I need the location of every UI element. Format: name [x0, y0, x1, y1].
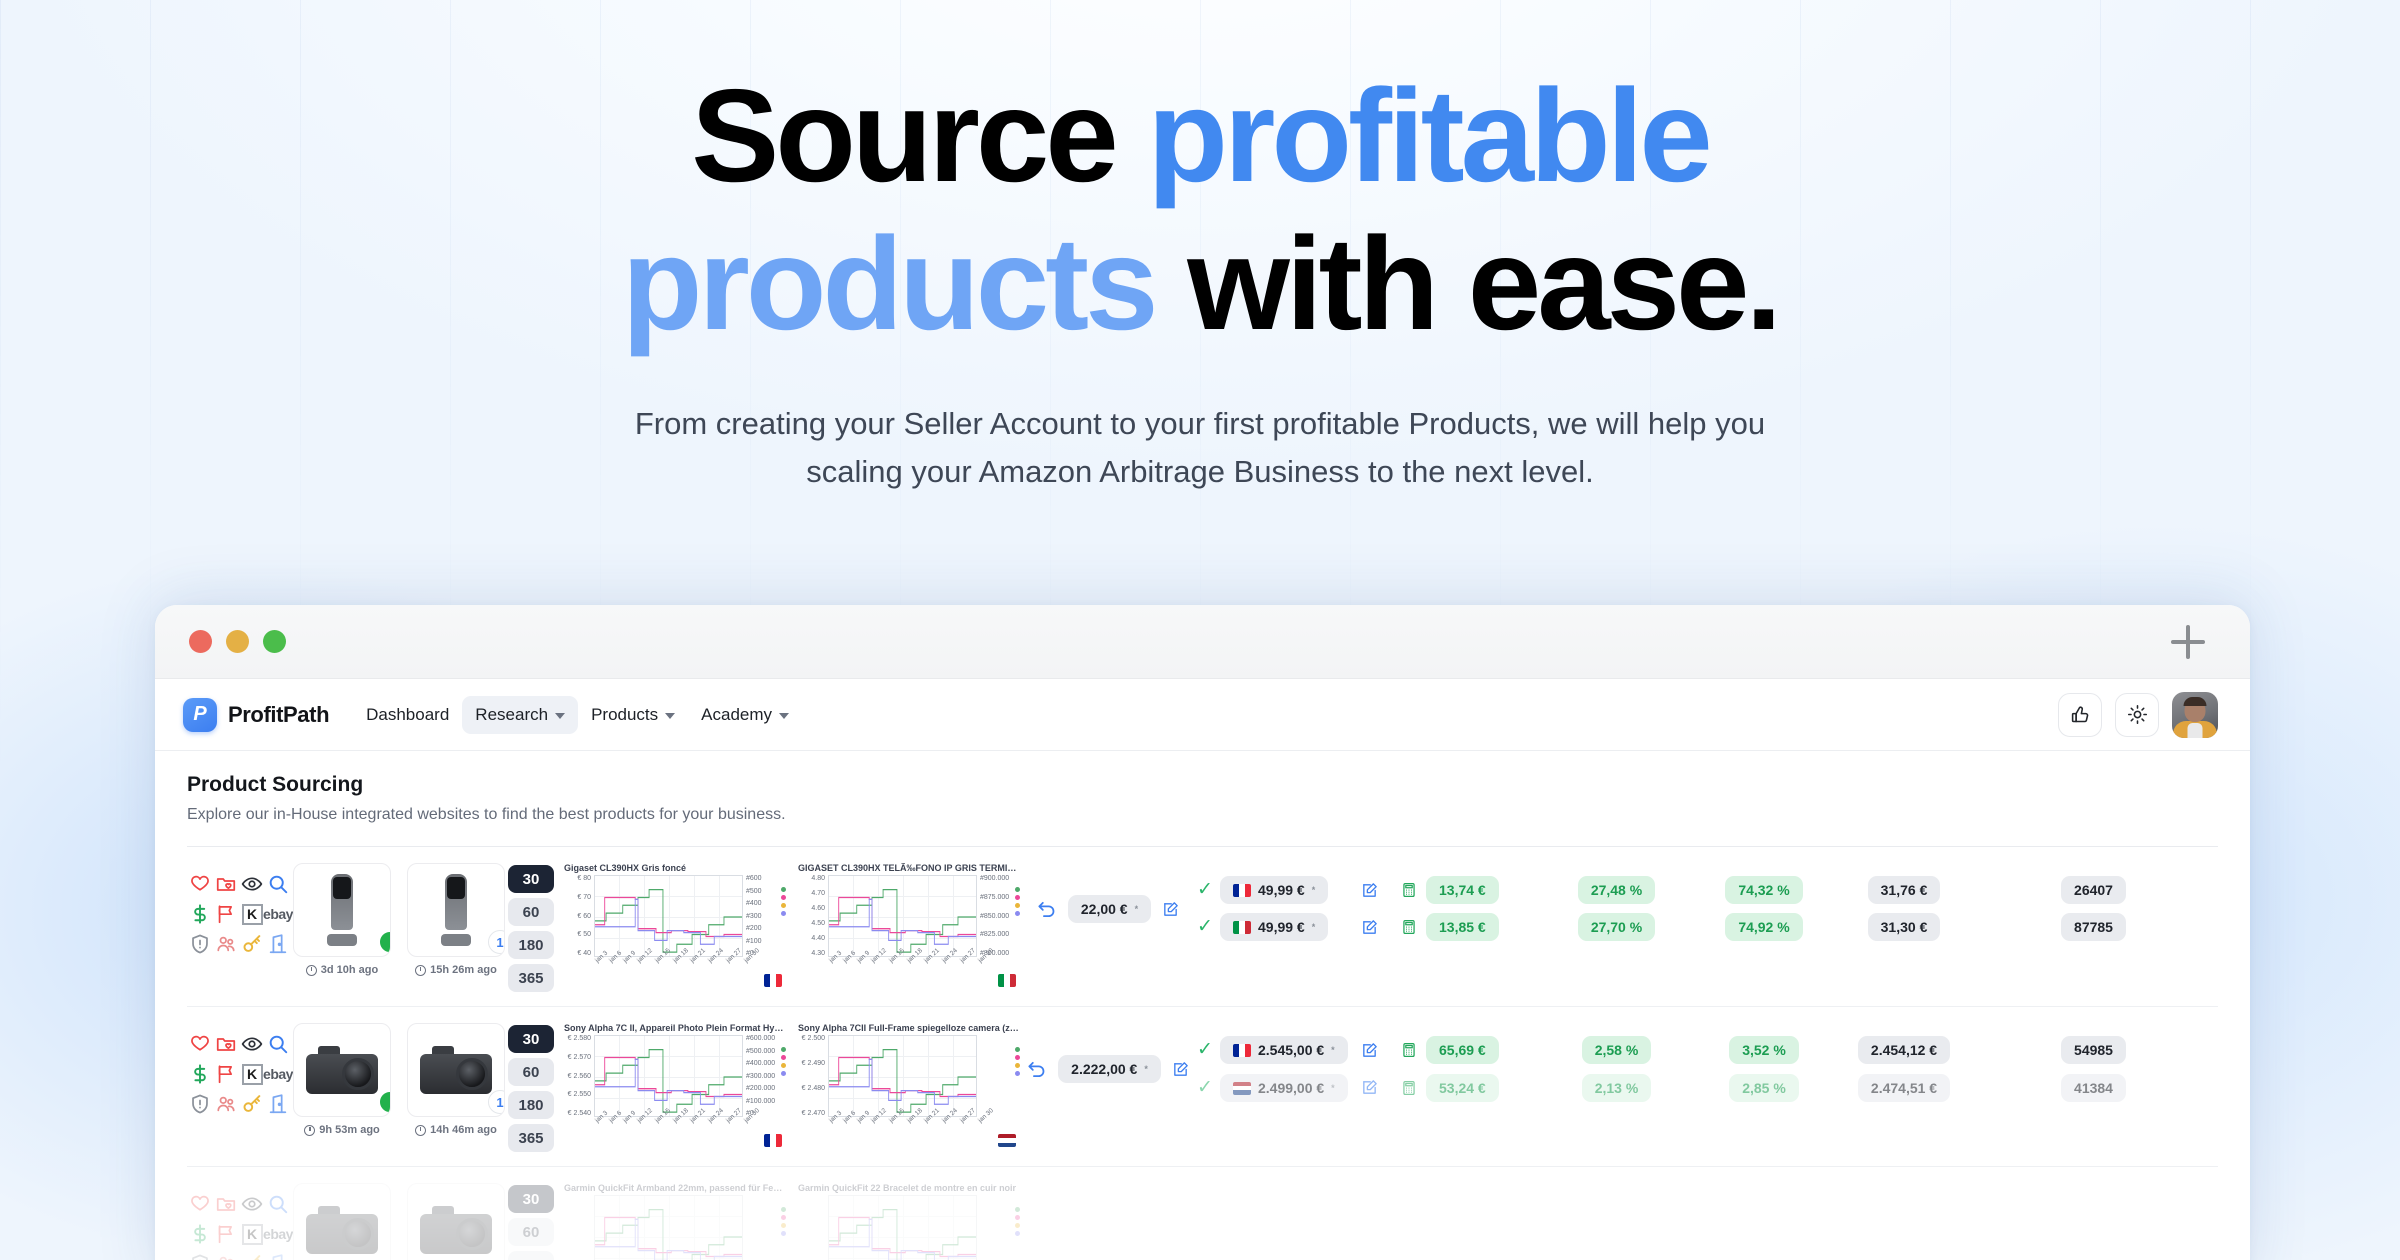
product-thumbnail[interactable]: [407, 1183, 505, 1260]
cost-pill: 2.454,12 €: [1858, 1036, 1950, 1064]
identifier-pill: 41384: [2061, 1074, 2126, 1102]
hero-subtitle-line-1: From creating your Seller Account to you…: [0, 400, 2400, 448]
marketplace-metrics: [1190, 1183, 2218, 1196]
eye-icon[interactable]: [241, 1193, 263, 1215]
count-badge: 1: [488, 930, 505, 954]
margin-pill: 2,58 %: [1582, 1036, 1652, 1064]
hero-headline: Source profitable products with ease.: [0, 0, 2400, 358]
chart-y2-axis: [743, 1195, 779, 1260]
flag-it-icon: [998, 974, 1016, 987]
chart-y2-axis: #600.000#500.000#400.000#300.000#200.000…: [743, 1035, 779, 1117]
product-image-cordless-phone: [441, 874, 471, 946]
chart-y-axis: € 2.580€ 2.570€ 2.560€ 2.550€ 2.540: [564, 1035, 594, 1117]
chart-plot-area: [594, 1195, 743, 1260]
table-row[interactable]: Kebay 3060180365 Garmin QuickFit Armband…: [187, 1167, 2218, 1260]
margin-pill: 27,48 %: [1578, 876, 1655, 904]
chart-x-axis: jan 3jan 6jan 9jan 12jan 15jan 18jan 21j…: [594, 1119, 750, 1126]
roi-pill: 74,92 %: [1725, 913, 1802, 941]
sell-price-pill[interactable]: 49,99 €*: [1220, 876, 1328, 904]
price-history-charts: Gigaset CL390HX Gris foncé € 80€ 70€ 60€…: [560, 863, 1025, 987]
brand-name: ProfitPath: [228, 702, 329, 728]
navbar-actions: [2058, 692, 2218, 738]
users-icon[interactable]: [215, 1253, 237, 1260]
nav-label-dashboard: Dashboard: [366, 705, 449, 725]
key-icon[interactable]: [241, 933, 263, 955]
heart-icon[interactable]: [189, 873, 211, 895]
flag-fr-icon: [1233, 1044, 1251, 1057]
nav-item-academy[interactable]: Academy: [688, 696, 802, 734]
calculator-icon[interactable]: [1401, 919, 1417, 935]
marketplace-metrics: ✓ 2.545,00 €* 65,69 € 2,58 % 3,52 % 2.45…: [1190, 1023, 2218, 1102]
check-icon: ✓: [1197, 916, 1213, 937]
price-history-chart[interactable]: Sony Alpha 7C II, Appareil Photo Plein F…: [564, 1023, 786, 1147]
theme-toggle-button[interactable]: [2115, 693, 2159, 737]
chart-y-axis: € 80€ 70€ 60€ 50€ 40: [564, 875, 594, 957]
undo-icon[interactable]: [1026, 1059, 1047, 1080]
app-navbar: P ProfitPath Dashboard Research Products…: [155, 679, 2250, 751]
product-card[interactable]: 9h 53m ago: [293, 1023, 391, 1136]
date-range-selector: 3060180365: [502, 863, 560, 992]
date-range-selector: 3060180365: [502, 1023, 560, 1152]
minimize-window-button[interactable]: [226, 630, 249, 653]
price-history-chart-svg: [829, 876, 976, 956]
price-history-chart[interactable]: Garmin QuickFit 22 Bracelet de montre en…: [798, 1183, 1020, 1260]
product-thumbnail[interactable]: [293, 1183, 391, 1260]
margin-pill: 27,70 %: [1578, 913, 1655, 941]
chart-x-axis: jan 3jan 6jan 9jan 12jan 15jan 18jan 21j…: [594, 959, 750, 966]
edit-icon[interactable]: [1361, 919, 1378, 936]
day-range-365-button[interactable]: 365: [508, 1124, 554, 1152]
headline-text-2: with ease.: [1155, 210, 1779, 357]
price-history-chart-svg: [829, 1196, 976, 1260]
eye-icon[interactable]: [241, 1033, 263, 1055]
edit-icon[interactable]: [1361, 1042, 1378, 1059]
product-thumbnails: 9h 53m ago 1 14h 46m ago: [287, 1023, 502, 1136]
chart-legend: [779, 1035, 786, 1117]
profit-pill: 13,74 €: [1426, 876, 1499, 904]
price-history-chart-svg: [829, 1036, 976, 1116]
product-thumbnail[interactable]: [293, 863, 391, 957]
chart-title: Sony Alpha 7CII Full-Frame spiegelloze c…: [798, 1023, 1020, 1033]
cost-pill: 31,76 €: [1868, 876, 1941, 904]
day-range-30-button[interactable]: 30: [508, 865, 554, 893]
price-history-chart[interactable]: Gigaset CL390HX Gris foncé € 80€ 70€ 60€…: [564, 863, 786, 987]
day-range-180-button[interactable]: 180: [508, 1251, 554, 1260]
day-range-180-button[interactable]: 180: [508, 931, 554, 959]
product-thumbnail[interactable]: [293, 1023, 391, 1117]
product-thumbnails: 3d 10h ago 1 15h 26m ago: [287, 863, 502, 976]
chart-marketplace-flag: [564, 974, 786, 987]
day-range-30-button[interactable]: 30: [508, 1025, 554, 1053]
marketplace-metric-row[interactable]: ✓ 49,99 €* 13,85 € 27,70 % 74,92 % 31,30…: [1190, 913, 2218, 941]
product-image-cordless-phone: [327, 874, 357, 946]
nav-label-products: Products: [591, 705, 658, 725]
chevron-down-icon: [665, 713, 675, 719]
day-range-30-button[interactable]: 30: [508, 1185, 554, 1213]
users-icon[interactable]: [215, 933, 237, 955]
flag-nl-icon: [998, 1134, 1016, 1147]
headline-text-1: Source: [691, 62, 1147, 209]
marketplace-metric-row[interactable]: ✓ 2.499,00 €* 53,24 € 2,13 % 2,85 % 2.47…: [1190, 1073, 2218, 1102]
check-icon: ✓: [1197, 879, 1213, 900]
roi-pill: 2,85 %: [1729, 1074, 1799, 1102]
avatar[interactable]: [2172, 692, 2218, 738]
door-icon[interactable]: [267, 933, 289, 955]
price-history-charts: Sony Alpha 7C II, Appareil Photo Plein F…: [560, 1023, 1025, 1147]
product-image-camera: [420, 1206, 492, 1254]
chart-legend: [1013, 1195, 1020, 1260]
day-range-180-button[interactable]: 180: [508, 1091, 554, 1119]
price-history-chart-svg: [595, 1036, 742, 1116]
status-dot-badge: [378, 930, 391, 954]
price-history-chart[interactable]: Sony Alpha 7CII Full-Frame spiegelloze c…: [798, 1023, 1020, 1147]
product-timestamp: 14h 46m ago: [407, 1124, 505, 1136]
chart-plot-area: [594, 875, 743, 957]
page-title: Product Sourcing: [187, 773, 2218, 797]
maximize-window-button[interactable]: [263, 630, 286, 653]
folder-heart-icon[interactable]: [215, 1193, 237, 1215]
buy-price-cell: 2.222,00 €*: [1025, 1023, 1190, 1083]
buy-price-pill[interactable]: 22,00 €*: [1068, 895, 1151, 923]
eye-icon[interactable]: [241, 873, 263, 895]
profit-pill: 65,69 €: [1426, 1036, 1499, 1064]
table-row[interactable]: Kebay 9h 53m ago 1 14h 46m ago 306018036…: [187, 1007, 2218, 1167]
kaufland-icon[interactable]: K: [242, 1224, 263, 1245]
product-image-camera: [306, 1206, 378, 1254]
kaufland-icon[interactable]: K: [242, 904, 263, 925]
product-image-camera: [306, 1046, 378, 1094]
shield-alert-icon[interactable]: [189, 1093, 211, 1115]
row-action-icons: Kebay: [187, 1183, 287, 1260]
headline-highlight-1: profitable: [1147, 62, 1708, 209]
nav-item-research[interactable]: Research: [462, 696, 578, 734]
identifier-pill: 54985: [2061, 1036, 2126, 1064]
edit-icon[interactable]: [1361, 882, 1378, 899]
cost-pill: 2.474,51 €: [1858, 1074, 1950, 1102]
nav-label-academy: Academy: [701, 705, 772, 725]
price-history-chart-svg: [595, 876, 742, 956]
search-icon[interactable]: [267, 1033, 289, 1055]
clock-icon: [306, 965, 317, 976]
product-card[interactable]: 1 15h 26m ago: [407, 863, 505, 976]
shield-alert-icon[interactable]: [189, 1253, 211, 1260]
chart-plot-area: [594, 1035, 743, 1117]
search-icon[interactable]: [267, 873, 289, 895]
chart-x-axis: jan 3jan 6jan 9jan 12jan 15jan 18jan 21j…: [828, 959, 984, 966]
chart-title: Gigaset CL390HX Gris foncé: [564, 863, 786, 873]
count-badge: 1: [488, 1090, 505, 1114]
profit-pill: 53,24 €: [1426, 1074, 1499, 1102]
flag-it-icon: [1233, 921, 1251, 934]
shield-alert-icon[interactable]: [189, 933, 211, 955]
roi-pill: 3,52 %: [1729, 1036, 1799, 1064]
margin-pill: 2,13 %: [1582, 1074, 1652, 1102]
chart-y-axis: [564, 1195, 594, 1260]
dollar-icon[interactable]: [189, 1223, 211, 1245]
undo-icon[interactable]: [1036, 899, 1057, 920]
close-window-button[interactable]: [189, 630, 212, 653]
chart-marketplace-flag: [798, 1134, 1020, 1147]
search-icon[interactable]: [267, 1193, 289, 1215]
brand[interactable]: P ProfitPath: [183, 698, 329, 732]
chart-title: GIGASET CL390HX TELÃ‰FONO IP GRIS TERMIN…: [798, 863, 1020, 873]
dollar-icon[interactable]: [189, 903, 211, 925]
edit-icon[interactable]: [1172, 1061, 1189, 1078]
chart-legend: [1013, 1035, 1020, 1117]
clock-icon: [415, 1125, 426, 1136]
price-history-chart-svg: [595, 1196, 742, 1260]
chart-y-axis: € 2.500€ 2.490€ 2.480€ 2.470: [798, 1035, 828, 1117]
heart-icon[interactable]: [189, 1033, 211, 1055]
thumbs-up-icon: [2070, 704, 2091, 725]
check-icon: ✓: [1197, 1039, 1213, 1060]
page-header: Product Sourcing Explore our in-House in…: [155, 751, 2250, 824]
date-range-selector: 3060180365: [502, 1183, 560, 1260]
chart-y-axis: [798, 1195, 828, 1260]
chart-legend: [1013, 875, 1020, 957]
price-history-chart[interactable]: GIGASET CL390HX TELÃ‰FONO IP GRIS TERMIN…: [798, 863, 1020, 987]
marketplace-metric-row[interactable]: ✓ 49,99 €* 13,74 € 27,48 % 74,32 % 31,76…: [1190, 876, 2218, 904]
window-titlebar: [155, 605, 2250, 679]
table-row[interactable]: Kebay 3d 10h ago 1 15h 26m ago 306018036…: [187, 847, 2218, 1007]
hero-section: Source profitable products with ease. Fr…: [0, 0, 2400, 496]
flag-icon[interactable]: [215, 1063, 237, 1085]
product-card[interactable]: [293, 1183, 391, 1260]
profitpath-logo-icon: P: [183, 698, 217, 732]
hero-subtitle: From creating your Seller Account to you…: [0, 400, 2400, 496]
nav-label-research: Research: [475, 705, 548, 725]
chart-plot-area: [828, 1035, 977, 1117]
cost-pill: 31,30 €: [1868, 913, 1941, 941]
key-icon[interactable]: [241, 1093, 263, 1115]
product-sourcing-table: Kebay 3d 10h ago 1 15h 26m ago 306018036…: [155, 847, 2250, 1260]
day-range-60-button[interactable]: 60: [508, 1058, 554, 1086]
clock-icon: [415, 965, 426, 976]
users-icon[interactable]: [215, 1093, 237, 1115]
chart-y2-axis: [977, 1195, 1013, 1260]
product-thumbnails: [287, 1183, 502, 1260]
chart-legend: [779, 1195, 786, 1260]
chart-title: Sony Alpha 7C II, Appareil Photo Plein F…: [564, 1023, 786, 1033]
chart-title: Garmin QuickFit Armband 22mm, passend fü…: [564, 1183, 786, 1193]
marketplace-metrics: ✓ 49,99 €* 13,74 € 27,48 % 74,32 % 31,76…: [1190, 863, 2218, 941]
nav-item-dashboard[interactable]: Dashboard: [353, 696, 462, 734]
product-thumbnail[interactable]: 1: [407, 863, 505, 957]
kaufland-icon[interactable]: K: [242, 1064, 263, 1085]
day-range-365-button[interactable]: 365: [508, 964, 554, 992]
flag-fr-icon: [1233, 884, 1251, 897]
flag-fr-icon: [764, 1134, 782, 1147]
edit-icon[interactable]: [1361, 1079, 1378, 1096]
key-icon[interactable]: [241, 1253, 263, 1260]
product-card[interactable]: 1 14h 46m ago: [407, 1023, 505, 1136]
product-timestamp: 9h 53m ago: [293, 1124, 391, 1136]
chart-x-axis: jan 3jan 6jan 9jan 12jan 15jan 18jan 21j…: [828, 1119, 984, 1126]
chart-marketplace-flag: [798, 974, 1020, 987]
price-history-chart[interactable]: Garmin QuickFit Armband 22mm, passend fü…: [564, 1183, 786, 1260]
identifier-pill: 26407: [2061, 876, 2126, 904]
calculator-icon[interactable]: [1401, 1080, 1417, 1096]
flag-icon[interactable]: [215, 1223, 237, 1245]
flag-icon[interactable]: [215, 903, 237, 925]
heart-icon[interactable]: [189, 1193, 211, 1215]
chart-y2-axis: #600#500#400#300#200#100#0: [743, 875, 779, 957]
product-timestamp: 3d 10h ago: [293, 964, 391, 976]
door-icon[interactable]: [267, 1253, 289, 1260]
product-thumbnail[interactable]: 1: [407, 1023, 505, 1117]
chevron-down-icon: [779, 713, 789, 719]
flag-fr-icon: [764, 974, 782, 987]
sun-icon: [2127, 704, 2148, 725]
row-action-icons: Kebay: [187, 1023, 287, 1119]
day-range-60-button[interactable]: 60: [508, 1218, 554, 1246]
identifier-pill: 87785: [2061, 913, 2126, 941]
product-card[interactable]: [407, 1183, 505, 1260]
chart-y2-axis: [977, 1035, 1013, 1117]
folder-heart-icon[interactable]: [215, 873, 237, 895]
chart-marketplace-flag: [564, 1134, 786, 1147]
product-image-camera: [420, 1046, 492, 1094]
buy-price-cell: 22,00 €*: [1025, 863, 1190, 923]
edit-icon[interactable]: [1162, 901, 1179, 918]
sell-price-pill[interactable]: 2.545,00 €*: [1220, 1036, 1348, 1064]
door-icon[interactable]: [267, 1093, 289, 1115]
new-tab-icon[interactable]: [2171, 625, 2205, 659]
status-dot-badge: [378, 1090, 391, 1114]
dollar-icon[interactable]: [189, 1063, 211, 1085]
chart-legend: [779, 875, 786, 957]
sell-price-pill[interactable]: 2.499,00 €*: [1220, 1074, 1348, 1102]
calculator-icon[interactable]: [1401, 1042, 1417, 1058]
folder-heart-icon[interactable]: [215, 1033, 237, 1055]
chart-title: Garmin QuickFit 22 Bracelet de montre en…: [798, 1183, 1020, 1193]
product-timestamp: 15h 26m ago: [407, 964, 505, 976]
chart-y2-axis: #900.000#875.000#850.000#825.000#800.000: [977, 875, 1013, 957]
hero-subtitle-line-2: scaling your Amazon Arbitrage Business t…: [0, 448, 2400, 496]
row-action-icons: Kebay: [187, 863, 287, 959]
window-controls: [189, 630, 286, 653]
buy-price-pill[interactable]: 2.222,00 €*: [1058, 1055, 1161, 1083]
flag-nl-icon: [1233, 1082, 1251, 1095]
chart-plot-area: [828, 875, 977, 957]
day-range-60-button[interactable]: 60: [508, 898, 554, 926]
price-history-charts: Garmin QuickFit Armband 22mm, passend fü…: [560, 1183, 1025, 1260]
chart-y-axis: 4.804.704.604.504.404.30: [798, 875, 828, 957]
chevron-down-icon: [555, 713, 565, 719]
roi-pill: 74,32 %: [1725, 876, 1802, 904]
sell-price-pill[interactable]: 49,99 €*: [1220, 913, 1328, 941]
check-icon: ✓: [1197, 1077, 1213, 1098]
nav-item-products[interactable]: Products: [578, 696, 688, 734]
calculator-icon[interactable]: [1401, 882, 1417, 898]
marketplace-metric-row[interactable]: ✓ 2.545,00 €* 65,69 € 2,58 % 3,52 % 2.45…: [1190, 1036, 2218, 1064]
product-card[interactable]: 3d 10h ago: [293, 863, 391, 976]
headline-highlight-2: products: [622, 210, 1155, 357]
profit-pill: 13,85 €: [1426, 913, 1499, 941]
page-description: Explore our in-House integrated websites…: [187, 806, 2218, 824]
thumbs-up-button[interactable]: [2058, 693, 2102, 737]
clock-icon: [304, 1125, 315, 1136]
chart-plot-area: [828, 1195, 977, 1260]
browser-window: P ProfitPath Dashboard Research Products…: [155, 605, 2250, 1260]
